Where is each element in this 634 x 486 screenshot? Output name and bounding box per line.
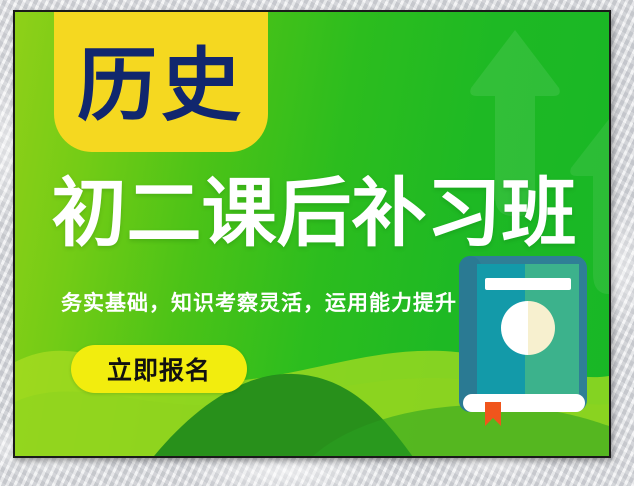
book-icon [457,254,593,426]
poster-subtitle: 务实基础，知识考察灵活，运用能力提升 [29,287,489,317]
subject-badge-label: 历史 [77,34,245,126]
subject-badge: 历史 [54,12,268,152]
screenshot-canvas: 历史 初二课后补习班 务实基础，知识考察灵活，运用能力提升 立即报名 [0,0,634,486]
poster-background: 历史 初二课后补习班 务实基础，知识考察灵活，运用能力提升 立即报名 [15,12,609,456]
poster-frame: 历史 初二课后补习班 务实基础，知识考察灵活，运用能力提升 立即报名 [13,10,611,458]
enroll-now-button[interactable]: 立即报名 [71,345,247,393]
page-title: 初二课后补习班 [21,176,607,251]
enroll-now-button-label: 立即报名 [107,351,211,387]
